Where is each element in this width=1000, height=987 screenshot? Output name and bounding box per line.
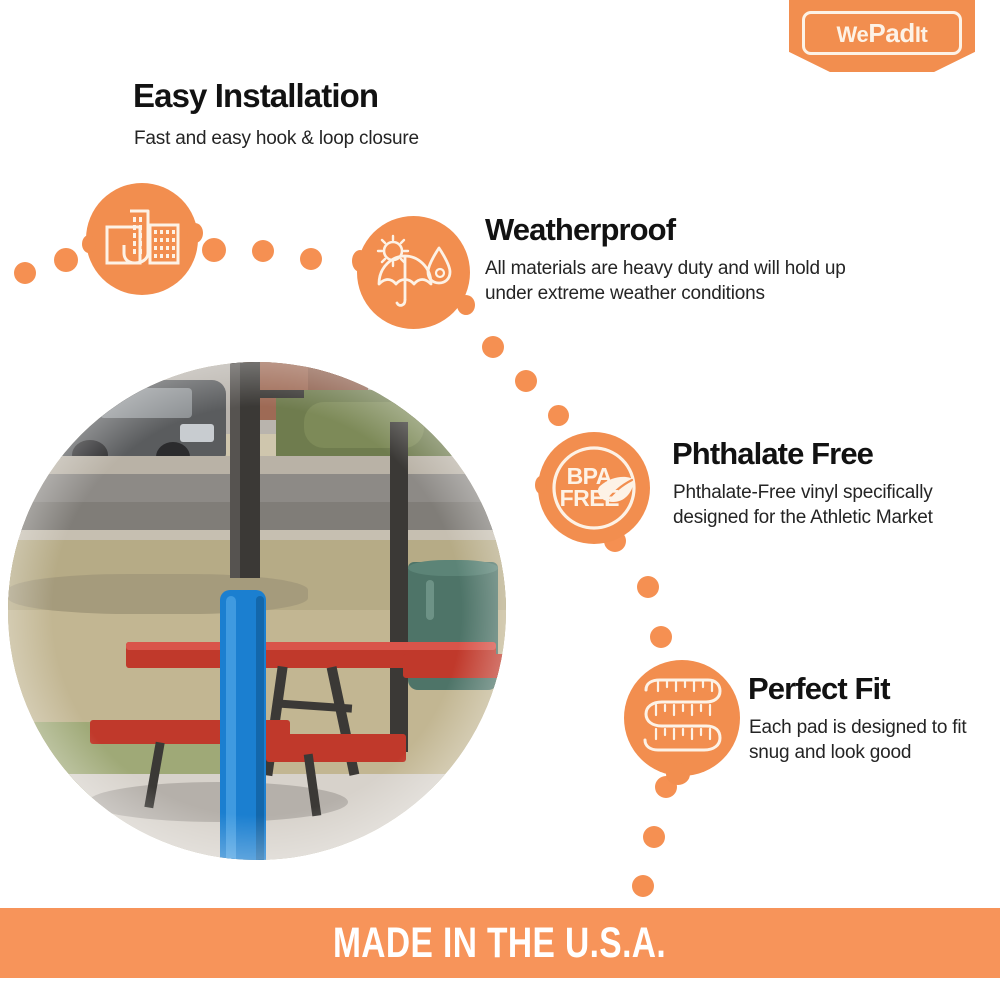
weather-glyph	[373, 234, 455, 312]
trail-dot	[637, 576, 659, 598]
icon-sun-umbrella-raindrop	[357, 216, 470, 329]
feature-body-weatherproof: All materials are heavy duty and will ho…	[485, 256, 895, 307]
icon-measuring-tape	[624, 660, 740, 776]
measuring-tape-glyph	[636, 674, 728, 762]
trail-dot	[202, 238, 226, 262]
feature-body-easy-installation: Fast and easy hook & loop closure	[134, 126, 419, 151]
made-in-usa-text: MADE IN THE U.S.A.	[333, 919, 666, 968]
logo-text-we: We	[837, 22, 869, 47]
trail-dot	[14, 262, 36, 284]
made-in-usa-banner: MADE IN THE U.S.A.	[0, 908, 1000, 978]
circle-nub	[666, 763, 690, 785]
logo-wordmark: WePadIt	[837, 20, 928, 46]
trail-dot	[54, 248, 78, 272]
velcro-strip-glyph	[104, 205, 180, 273]
trail-dot	[300, 248, 322, 270]
trail-dot	[252, 240, 274, 262]
icon-bpa-free-leaf: BPA FREE	[538, 432, 650, 544]
feature-title-perfect-fit: Perfect Fit	[748, 673, 890, 706]
product-photo	[8, 362, 506, 860]
trail-dot	[548, 405, 569, 426]
logo-text-it: It	[915, 22, 928, 47]
circle-nub	[82, 235, 96, 253]
trail-dot	[643, 826, 665, 848]
circle-nub	[457, 295, 475, 315]
logo-text-pad: Pad	[868, 18, 914, 48]
feature-body-perfect-fit: Each pad is designed to fit snug and loo…	[749, 715, 974, 766]
bpa-free-line2: FREE	[560, 488, 619, 510]
circle-nub	[187, 223, 203, 243]
feature-title-easy-installation: Easy Installation	[133, 79, 378, 114]
feature-title-weatherproof: Weatherproof	[485, 214, 675, 247]
brand-logo: WePadIt	[789, 0, 975, 72]
feature-title-phthalate-free: Phthalate Free	[672, 438, 873, 471]
circle-nub	[352, 250, 368, 272]
trail-dot	[650, 626, 672, 648]
logo-outline-box: WePadIt	[802, 11, 962, 55]
infographic-page: WePadIt Easy Installation Fast and easy …	[0, 0, 1000, 987]
icon-velcro-strip	[86, 183, 198, 295]
bpa-free-label: BPA FREE	[560, 466, 619, 510]
trail-dot	[515, 370, 537, 392]
feature-body-phthalate-free: Phthalate-Free vinyl specifically design…	[673, 480, 933, 531]
photo-vignette	[8, 362, 506, 860]
trail-dot	[482, 336, 504, 358]
trail-dot	[632, 875, 654, 897]
